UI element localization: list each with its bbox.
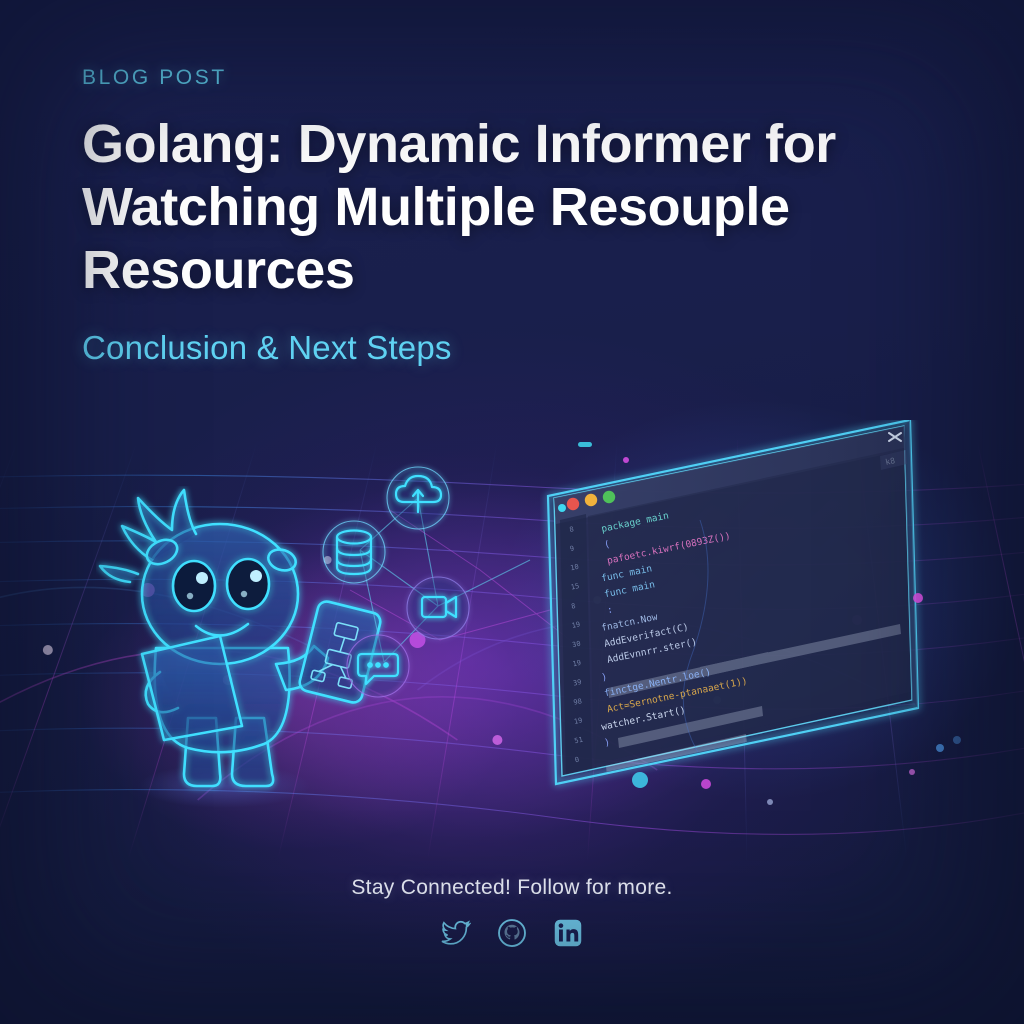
gutter-line-number: 98 — [573, 697, 583, 707]
gutter-line-number: 15 — [570, 582, 580, 592]
gutter-line-number: 19 — [572, 659, 582, 669]
gutter-line-number: 19 — [573, 716, 583, 726]
gutter-line-number: 39 — [572, 678, 582, 688]
mascot-ground-shadow — [138, 764, 310, 808]
window-minimize-dot[interactable] — [585, 494, 597, 506]
gutter-line-number: 10 — [570, 563, 580, 573]
code-editor-window[interactable]: k8 8910158193019399819510 package main(p… — [540, 420, 940, 810]
node-chat — [347, 635, 409, 697]
mascot-eye-right — [227, 559, 269, 609]
twitter-icon[interactable] — [441, 918, 471, 948]
github-icon[interactable] — [497, 918, 527, 948]
page-subtitle: Conclusion & Next Steps — [82, 329, 942, 367]
mascot-hair-side — [100, 566, 138, 582]
page-title: Golang: Dynamic Informer for Watching Mu… — [82, 113, 922, 303]
linkedin-icon[interactable] — [553, 918, 583, 948]
window-close-dot[interactable] — [567, 498, 579, 510]
node-cloud — [387, 467, 449, 529]
footer-cta-text: Stay Connected! Follow for more. — [0, 876, 1024, 900]
mascot-eye-left — [173, 561, 215, 611]
footer-block: Stay Connected! Follow for more. — [0, 876, 1024, 948]
gutter-line-number: 19 — [571, 620, 581, 630]
header-block: BLOG POST Golang: Dynamic Informer for W… — [82, 66, 942, 367]
node-database — [323, 521, 385, 583]
gutter-line-number: 30 — [571, 640, 581, 650]
poster-canvas: BLOG POST Golang: Dynamic Informer for W… — [0, 0, 1024, 1024]
window-maximize-dot[interactable] — [603, 491, 615, 503]
node-video — [407, 577, 469, 639]
eyebrow-label: BLOG POST — [82, 66, 942, 89]
social-links — [0, 918, 1024, 948]
gutter-line-number: 51 — [574, 736, 584, 746]
